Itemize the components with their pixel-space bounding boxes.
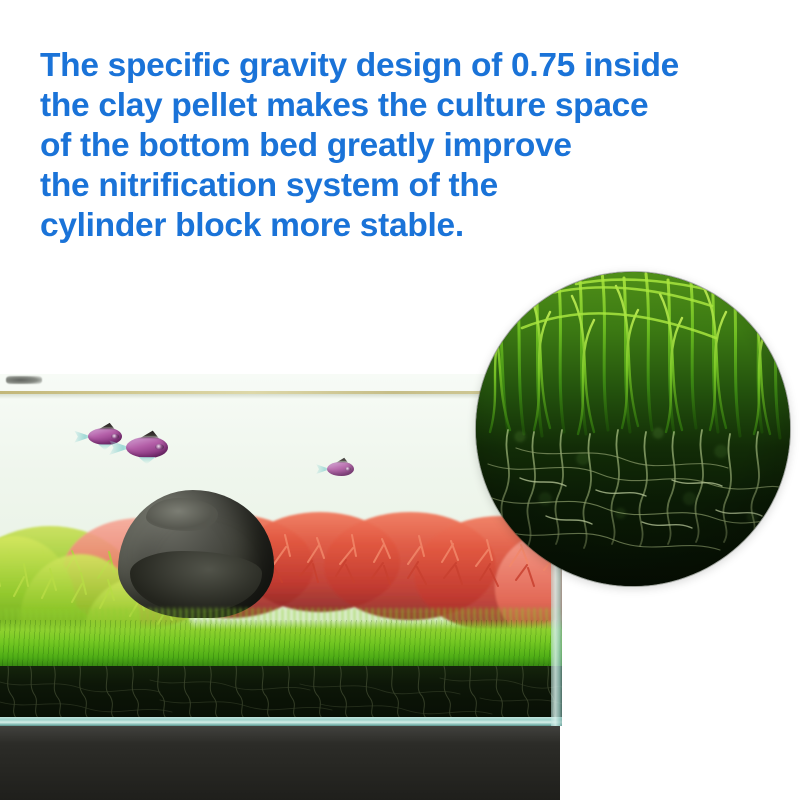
fish-eye	[111, 434, 118, 439]
promo-graphic: The specific gravity design of 0.75 insi…	[0, 0, 800, 800]
stand-top-sheen	[0, 726, 560, 744]
tank-glass-bottom-edge	[0, 717, 562, 726]
fish-middle	[126, 437, 168, 458]
root-network-svg	[0, 666, 562, 718]
clay-pellet-granules	[476, 404, 790, 586]
aquarium-stand	[0, 726, 560, 800]
clay-pellet-closeup-inset	[476, 272, 790, 586]
fish-left	[88, 428, 122, 445]
light-fixture-shadow	[6, 376, 42, 384]
clay-pellet-substrate	[0, 666, 562, 718]
page-title: The specific gravity design of 0.75 insi…	[40, 46, 760, 246]
